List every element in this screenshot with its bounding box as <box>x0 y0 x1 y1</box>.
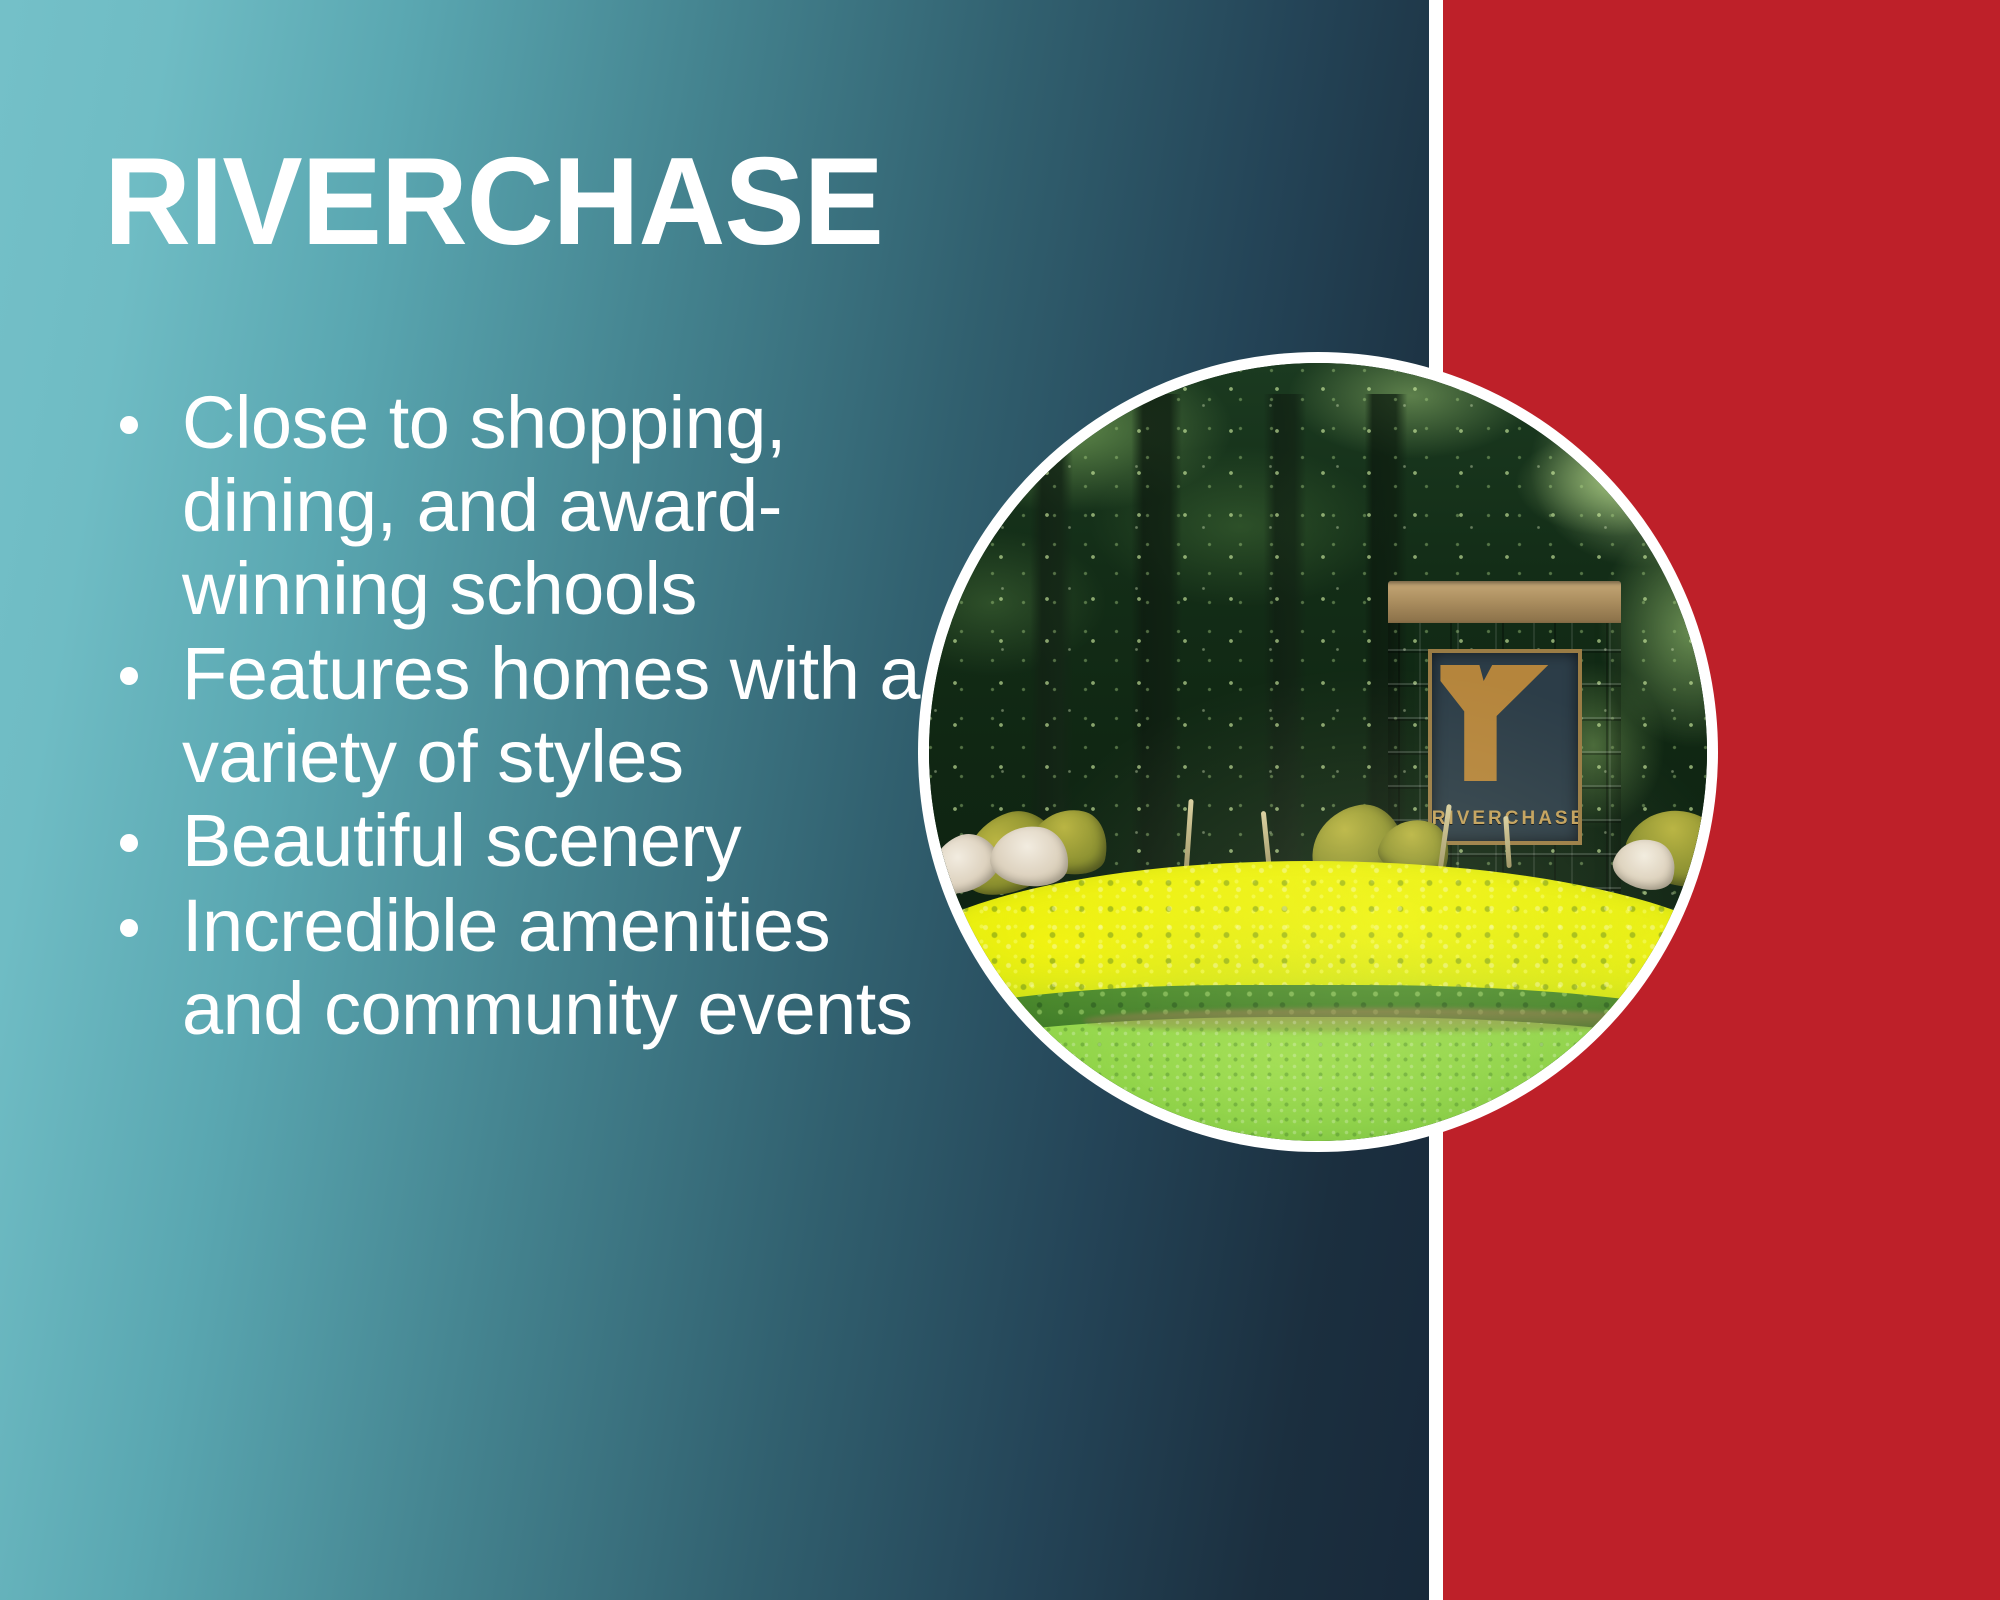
list-item-label: Beautiful scenery <box>182 799 741 882</box>
monument-capstone <box>1388 581 1621 623</box>
circular-photo-frame: RIVERCHASE <box>918 352 1718 1152</box>
list-item: Features homes with a variety of styles <box>104 633 934 799</box>
list-item-label: Close to shopping, dining, and award-win… <box>182 381 786 630</box>
bullet-dot-icon <box>120 416 138 434</box>
list-item-label: Features homes with a variety of styles <box>182 632 920 798</box>
slide-canvas: RIVERCHASE Close to shopping, dining, an… <box>0 0 2000 1600</box>
list-item-label: Incredible amenities and community event… <box>182 884 912 1050</box>
grass-blade-texture <box>929 1017 1707 1141</box>
list-item: Incredible amenities and community event… <box>104 885 934 1051</box>
bullet-dot-icon <box>120 919 138 937</box>
flower-spike <box>1503 816 1512 868</box>
list-item: Close to shopping, dining, and award-win… <box>104 382 934 631</box>
lawn-grass <box>929 1017 1707 1141</box>
list-item: Beautiful scenery <box>104 800 934 883</box>
entrance-monument-photo: RIVERCHASE <box>929 363 1707 1141</box>
page-title: RIVERCHASE <box>104 140 883 264</box>
bullet-dot-icon <box>120 834 138 852</box>
bullet-dot-icon <box>120 667 138 685</box>
feature-bullet-list: Close to shopping, dining, and award-win… <box>104 382 934 1053</box>
riverchase-fork-logo-icon <box>1440 665 1548 782</box>
